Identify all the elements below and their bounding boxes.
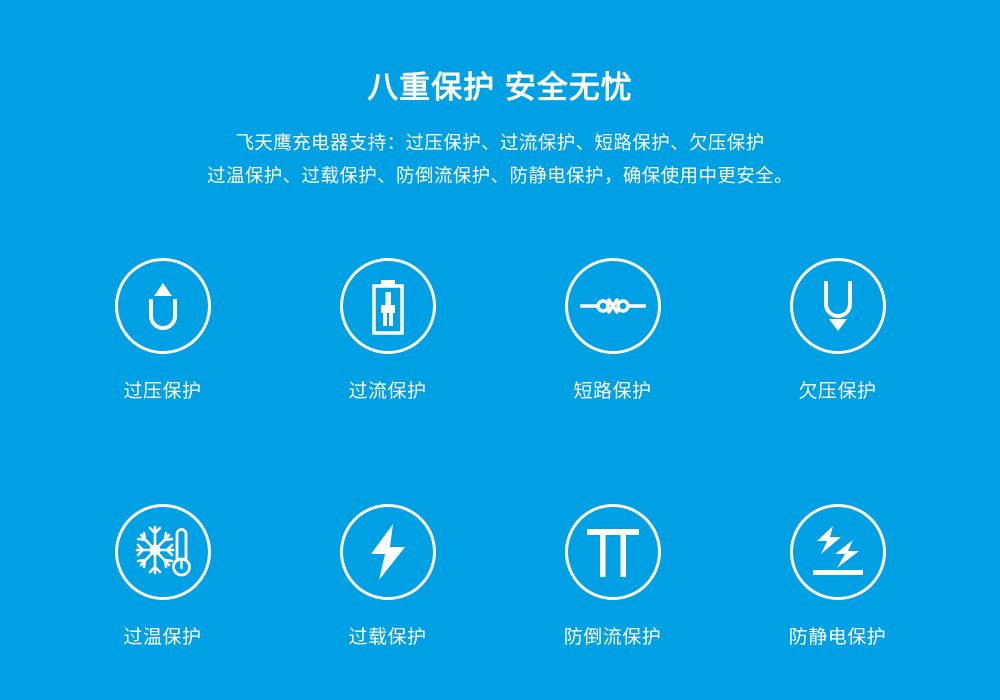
short-circuit-icon [565,258,661,354]
feature-label: 过温保护 [123,626,201,650]
over-current-battery-plug-icon [340,258,436,354]
over-load-lightning-bolt-icon [340,504,436,600]
feature-item-over-temperature: 过温保护 [50,504,275,650]
feature-item-short-circuit: 短路保护 [500,258,725,404]
page-subtitle: 飞天鹰充电器支持：过压保护、过流保护、短路保护、欠压保护 过温保护、过载保护、防… [0,108,1000,192]
over-temperature-snowflake-thermometer-icon [115,504,211,600]
anti-backflow-icon [565,504,661,600]
feature-label: 短路保护 [573,380,651,404]
feature-item-over-load: 过载保护 [275,504,500,650]
header: 八重保护 安全无忧 飞天鹰充电器支持：过压保护、过流保护、短路保护、欠压保护 过… [0,0,1000,192]
feature-label: 过压保护 [123,380,201,404]
subtitle-line-1: 飞天鹰充电器支持：过压保护、过流保护、短路保护、欠压保护 [0,126,1000,159]
feature-label: 防静电保护 [789,626,887,650]
feature-item-anti-backflow: 防倒流保护 [500,504,725,650]
over-voltage-icon [115,258,211,354]
feature-item-anti-static: 防静电保护 [725,504,950,650]
under-voltage-icon [790,258,886,354]
feature-item-under-voltage: 欠压保护 [725,258,950,404]
feature-item-over-voltage: 过压保护 [50,258,275,404]
feature-grid: 过压保护 过流保护 [50,258,950,650]
feature-item-over-current: 过流保护 [275,258,500,404]
protection-features-page: 八重保护 安全无忧 飞天鹰充电器支持：过压保护、过流保护、短路保护、欠压保护 过… [0,0,1000,700]
feature-label: 过载保护 [348,626,426,650]
anti-static-esd-icon [790,504,886,600]
feature-label: 过流保护 [348,380,426,404]
page-title: 八重保护 安全无忧 [0,0,1000,108]
feature-row: 过温保护 过载保护 防倒流保护 [50,504,950,650]
feature-row: 过压保护 过流保护 [50,258,950,404]
feature-label: 防倒流保护 [564,626,662,650]
feature-label: 欠压保护 [798,380,876,404]
subtitle-line-2: 过温保护、过载保护、防倒流保护、防静电保护，确保使用中更安全。 [0,159,1000,192]
